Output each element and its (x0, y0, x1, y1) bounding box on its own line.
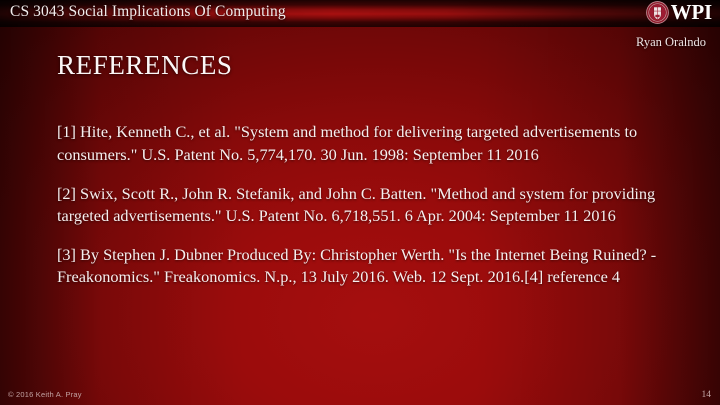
reference-item: [2] Swix, Scott R., John R. Stefanik, an… (57, 183, 665, 228)
copyright-notice: © 2016 Keith A. Pray (8, 390, 82, 399)
wpi-wordmark: WPI (671, 1, 712, 24)
slide-header-bar: CS 3043 Social Implications Of Computing (0, 0, 720, 27)
wpi-logo: WPI (646, 1, 712, 24)
course-title: CS 3043 Social Implications Of Computing (10, 3, 286, 21)
page-number: 14 (702, 390, 712, 400)
presentation-slide: CS 3043 Social Implications Of Computing… (0, 0, 720, 405)
reference-item: [1] Hite, Kenneth C., et al. "System and… (57, 121, 665, 166)
wpi-seal-icon (646, 1, 669, 24)
page-title: REFERENCES (57, 50, 233, 81)
reference-item: [3] By Stephen J. Dubner Produced By: Ch… (57, 244, 665, 289)
references-list: [1] Hite, Kenneth C., et al. "System and… (57, 105, 665, 289)
author-name: Ryan Oralndo (636, 35, 706, 50)
